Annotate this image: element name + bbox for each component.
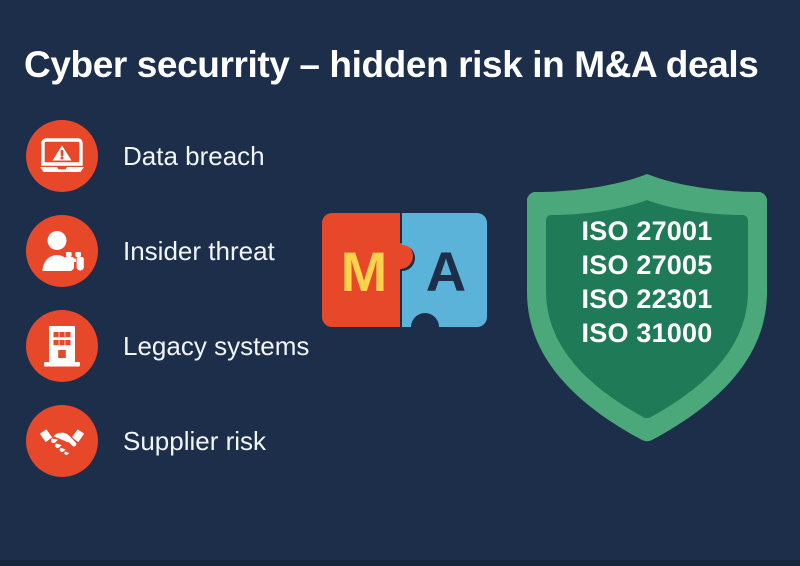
list-item-label: Insider threat — [123, 215, 275, 287]
risk-list: Data breach — [26, 120, 326, 500]
puzzle-letter-a: A — [426, 240, 466, 303]
handshake-icon — [38, 424, 86, 458]
office-building-icon — [42, 324, 82, 368]
page-title: Cyber securrity – hidden risk in M&A dea… — [24, 42, 784, 88]
iso-standard-item: ISO 22301 — [521, 282, 773, 316]
list-item-label: Data breach — [123, 120, 265, 192]
list-item[interactable]: Insider threat — [26, 215, 326, 310]
list-item[interactable]: Supplier risk — [26, 405, 326, 500]
risk-icon-badge — [26, 215, 98, 287]
risk-icon-badge — [26, 120, 98, 192]
list-item[interactable]: Data breach — [26, 120, 326, 215]
list-item[interactable]: Legacy systems — [26, 310, 326, 405]
puzzle-letter-m: M — [341, 240, 388, 303]
risk-icon-badge — [26, 310, 98, 382]
puzzle-pieces-icon: M A — [322, 205, 497, 335]
person-binoculars-icon — [40, 230, 84, 272]
list-item-label: Supplier risk — [123, 405, 266, 477]
laptop-warning-icon — [39, 136, 85, 176]
iso-standard-item: ISO 27005 — [521, 248, 773, 282]
shield-icon: ISO 27001 ISO 27005 ISO 22301 ISO 31000 — [521, 172, 773, 442]
iso-standard-item: ISO 27001 — [521, 214, 773, 248]
infographic-canvas: Cyber securrity – hidden risk in M&A dea… — [0, 0, 800, 566]
list-item-label: Legacy systems — [123, 310, 309, 382]
iso-standards-list: ISO 27001 ISO 27005 ISO 22301 ISO 31000 — [521, 214, 773, 350]
bottom-edge-band — [0, 560, 800, 566]
iso-standard-item: ISO 31000 — [521, 316, 773, 350]
risk-icon-badge — [26, 405, 98, 477]
